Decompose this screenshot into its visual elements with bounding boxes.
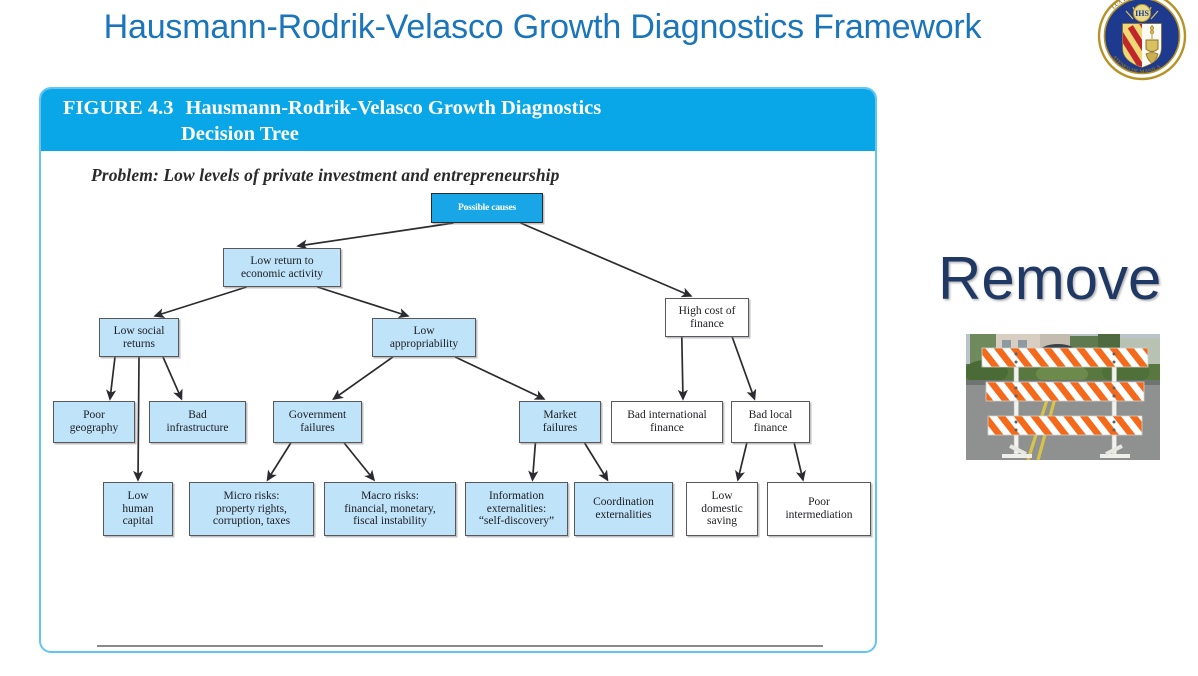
decision-tree: Possible causesLow return toeconomic act… [41,193,877,545]
tree-edge-gov-fail-to-micro-risk [268,443,291,480]
tree-node-label: Informationexternalities:“self-discovery… [479,490,554,528]
figure-title-line2: Decision Tree [181,121,875,147]
tree-node-low-social: Low socialreturns [99,318,179,357]
problem-statement: Problem: Low levels of private investmen… [91,165,559,186]
university-seal-icon: IHS [1086,0,1198,84]
tree-node-label: Lowhumancapital [122,490,153,528]
figure-panel: FIGURE 4.3Hausmann-Rodrik-Velasco Growth… [39,87,877,653]
source-divider [97,645,823,647]
tree-edge-low-social-to-poor-geo [110,357,115,399]
tree-node-bad-local: Bad localfinance [731,401,810,443]
tree-node-low-human: Lowhumancapital [103,482,173,536]
tree-node-bad-intl: Bad internationalfinance [611,401,723,443]
tree-node-micro-risk: Micro risks:property rights,corruption, … [189,482,314,536]
tree-node-poor-geo: Poorgeography [53,401,135,443]
tree-edge-low-social-to-low-human [138,357,139,480]
tree-node-bad-infra: Badinfrastructure [149,401,246,443]
tree-edge-low-social-to-bad-infra [163,357,182,399]
tree-node-poor-interm: Poorintermediation [767,482,871,536]
tree-node-mkt-fail: Marketfailures [519,401,601,443]
tree-node-label: Low return toeconomic activity [241,255,323,280]
tree-node-label: Low socialreturns [114,325,165,350]
tree-node-label: High cost offinance [679,305,736,330]
tree-edge-gov-fail-to-macro-risk [344,443,374,480]
figure-title-line1: Hausmann-Rodrik-Velasco Growth Diagnosti… [185,97,601,119]
tree-edge-high-cost-to-bad-local [732,337,754,399]
tree-node-label: Lowdomesticsaving [701,490,743,528]
tree-node-low-return: Low return toeconomic activity [223,248,341,287]
figure-header: FIGURE 4.3Hausmann-Rodrik-Velasco Growth… [41,89,875,151]
tree-node-macro-risk: Macro risks:financial, monetary,fiscal i… [324,482,456,536]
tree-node-label: Bad localfinance [749,409,793,434]
tree-edge-root-to-high-cost [521,223,691,296]
tree-edge-low-approp-to-mkt-fail [455,357,544,399]
road-barricade-photo [966,334,1160,460]
tree-node-label: Governmentfailures [289,409,346,434]
tree-node-label: Coordinationexternalities [593,496,654,521]
remove-annotation: Remove [938,244,1161,313]
tree-node-label: Poorgeography [70,409,119,434]
tree-edge-root-to-low-return [298,223,453,246]
figure-number: FIGURE 4.3 [63,97,173,119]
tree-node-gov-fail: Governmentfailures [273,401,362,443]
tree-node-label: Marketfailures [543,409,577,434]
tree-edge-high-cost-to-bad-intl [682,337,683,399]
tree-node-label: Poorintermediation [785,496,852,521]
tree-edge-bad-local-to-poor-interm [794,443,803,480]
tree-edge-mkt-fail-to-coord-ext [585,443,608,480]
tree-edge-low-return-to-low-approp [317,287,408,316]
svg-text:IHS: IHS [1135,9,1149,18]
tree-node-label: Macro risks:financial, monetary,fiscal i… [344,490,436,528]
tree-edge-low-approp-to-gov-fail [334,357,393,399]
tree-node-high-cost: High cost offinance [665,298,749,337]
tree-node-coord-ext: Coordinationexternalities [574,482,673,536]
tree-edge-mkt-fail-to-info-ext [533,443,536,480]
tree-node-label: Micro risks:property rights,corruption, … [213,490,290,528]
tree-node-label: Badinfrastructure [167,409,229,434]
page-title: Hausmann-Rodrik-Velasco Growth Diagnosti… [0,8,1085,47]
tree-node-label: Bad internationalfinance [627,409,707,434]
tree-edge-bad-local-to-low-saving [738,443,747,480]
tree-node-low-approp: Lowappropriability [372,318,476,357]
tree-node-label: Possible causes [458,202,516,215]
tree-node-root: Possible causes [431,193,543,223]
tree-edge-low-return-to-low-social [155,287,247,316]
tree-node-label: Lowappropriability [390,325,458,350]
tree-node-low-saving: Lowdomesticsaving [686,482,758,536]
tree-node-info-ext: Informationexternalities:“self-discovery… [465,482,568,536]
